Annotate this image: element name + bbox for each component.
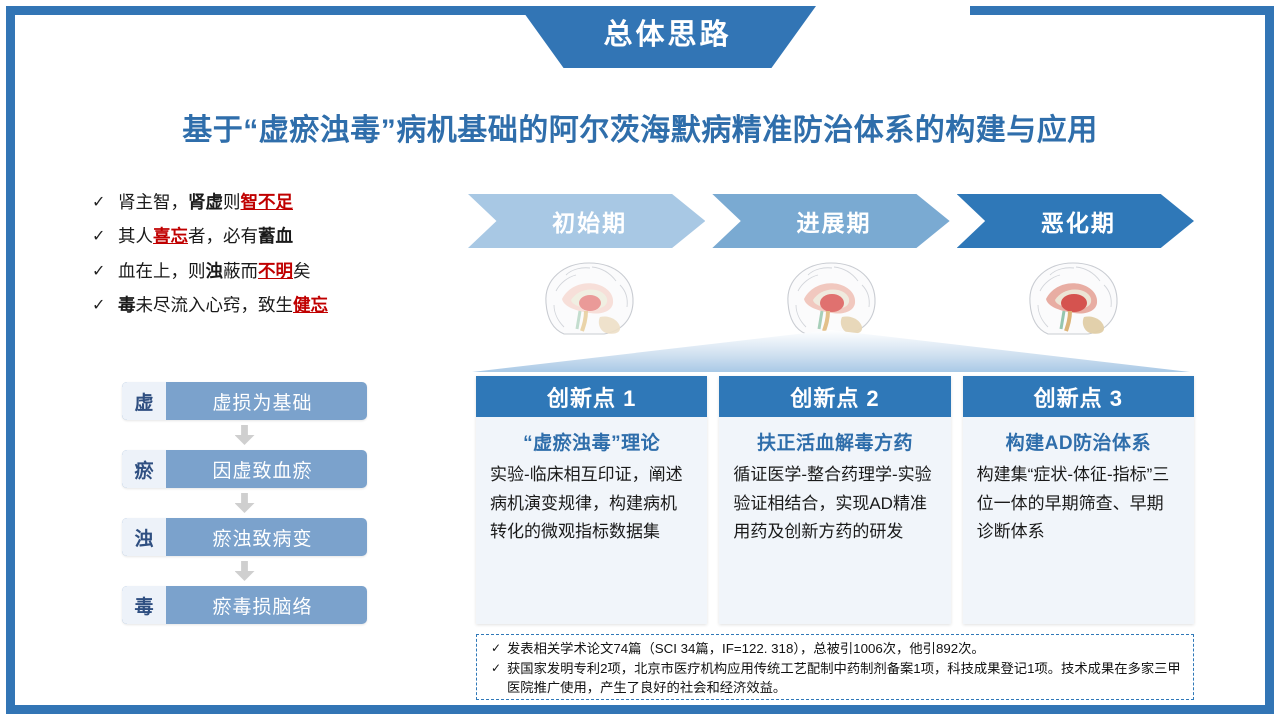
flow-step-label: 瘀浊致病变 — [166, 524, 367, 551]
stage-label: 初始期 — [546, 204, 627, 238]
text-run: 肾主智， — [118, 192, 188, 212]
text-run-highlight: 智不足 — [241, 192, 294, 212]
text-run: 则 — [223, 192, 241, 212]
innovation-card-2[interactable]: 创新点 2 扶正活血解毒方药 循证医学-整合药理学-实验验证相结合，实现AD精准… — [719, 376, 950, 624]
list-item: ✓ 其人喜忘者，必有蓄血 — [92, 224, 462, 249]
text-run-highlight: 不明 — [258, 261, 293, 281]
card-subtitle: “虚瘀浊毒”理论 — [476, 417, 707, 461]
innovation-cards: 创新点 1 “虚瘀浊毒”理论 实验-临床相互印证，阐述病机演变规律，构建病机转化… — [476, 376, 1194, 624]
slide-canvas: 总体思路 基于“虚瘀浊毒”病机基础的阿尔茨海默病精准防治体系的构建与应用 ✓ 肾… — [0, 0, 1280, 720]
stage-label: 恶化期 — [1035, 204, 1116, 238]
flow-step-label: 瘀毒损脑络 — [166, 592, 367, 619]
flow-step-label: 虚损为基础 — [166, 388, 367, 415]
header-banner: 总体思路 — [519, 6, 816, 68]
list-item: ✓ 血在上，则浊蔽而不明矣 — [92, 259, 462, 284]
check-icon: ✓ — [92, 293, 118, 316]
frame-border-top-left — [6, 6, 604, 15]
header-banner-title: 总体思路 — [603, 21, 731, 54]
frame-border-bottom — [6, 705, 1274, 714]
card-body-text: 实验-临床相互印证，阐述病机演变规律，构建病机转化的微观指标数据集 — [476, 461, 707, 557]
text-run: 者，必有 — [188, 226, 258, 246]
flow-step-xu[interactable]: 虚 虚损为基础 — [122, 382, 367, 420]
list-item: ✓ 肾主智，肾虚则智不足 — [92, 190, 462, 215]
check-icon: ✓ — [485, 660, 507, 677]
brain-sagittal-progressing-icon — [776, 255, 886, 341]
list-item-text: 毒未尽流入心窍，致生健忘 — [118, 293, 462, 318]
bullet-list: ✓ 肾主智，肾虚则智不足 ✓ 其人喜忘者，必有蓄血 ✓ 血在上，则浊蔽而不明矣 … — [92, 190, 462, 328]
flow-step-badge: 毒 — [122, 586, 166, 624]
check-icon: ✓ — [92, 224, 118, 247]
achievement-text: 发表相关学术论文74篇（SCI 34篇，IF=122. 318），总被引1006… — [507, 640, 1185, 659]
brain-cell — [468, 252, 710, 344]
card-header: 创新点 2 — [719, 376, 950, 417]
innovation-card-3[interactable]: 创新点 3 构建AD防治体系 构建集“症状-体征-指标”三位一体的早期筛查、早期… — [963, 376, 1194, 624]
text-run-bold: 蓄血 — [258, 226, 293, 246]
stage-chevron-worsening[interactable]: 恶化期 — [957, 194, 1194, 248]
text-run: 血在上，则 — [118, 261, 206, 281]
stage-label: 进展期 — [790, 204, 871, 238]
check-icon: ✓ — [92, 259, 118, 282]
achievement-item: ✓ 获国家发明专利2项，北京市医疗机构应用传统工艺配制中药制剂备案1项，科技成果… — [485, 660, 1185, 698]
frame-border-right — [1265, 6, 1274, 714]
text-run-bold: 浊 — [206, 261, 224, 281]
flow-connector — [122, 420, 367, 450]
frame-border-left — [6, 6, 15, 714]
text-run: 其人 — [118, 226, 153, 246]
text-run: 蔽而 — [223, 261, 258, 281]
flow-step-badge: 瘀 — [122, 450, 166, 488]
card-header: 创新点 3 — [963, 376, 1194, 417]
down-arrow-icon — [235, 425, 255, 445]
flow-step-yu[interactable]: 瘀 因虚致血瘀 — [122, 450, 367, 488]
flow-step-label: 因虚致血瘀 — [166, 456, 367, 483]
page-title: 基于“虚瘀浊毒”病机基础的阿尔茨海默病精准防治体系的构建与应用 — [0, 105, 1280, 149]
stage-chevron-initial[interactable]: 初始期 — [468, 194, 705, 248]
flow-connector — [122, 556, 367, 586]
flow-step-badge: 浊 — [122, 518, 166, 556]
stage-chevron-progressing[interactable]: 进展期 — [712, 194, 949, 248]
brain-cell — [952, 252, 1194, 344]
text-run-bold: 肾虚 — [188, 192, 223, 212]
stage-chevrons: 初始期 进展期 恶化期 — [468, 194, 1194, 248]
text-run: 未尽流入心窍，致生 — [136, 295, 294, 315]
flow-step-zhuo[interactable]: 浊 瘀浊致病变 — [122, 518, 367, 556]
frame-border-top-right — [970, 6, 1274, 15]
check-icon: ✓ — [485, 640, 507, 657]
list-item: ✓ 毒未尽流入心窍，致生健忘 — [92, 293, 462, 318]
text-run-bold: 毒 — [118, 295, 136, 315]
brain-sagittal-initial-icon — [534, 255, 644, 341]
card-subtitle: 扶正活血解毒方药 — [719, 417, 950, 461]
text-run-highlight: 健忘 — [293, 295, 328, 315]
flow-step-badge: 虚 — [122, 382, 166, 420]
achievement-text: 获国家发明专利2项，北京市医疗机构应用传统工艺配制中药制剂备案1项，科技成果登记… — [507, 660, 1185, 698]
pathogenesis-flow: 虚 虚损为基础 瘀 因虚致血瘀 浊 瘀浊致病变 毒 瘀毒损脑络 — [122, 382, 367, 624]
card-header: 创新点 1 — [476, 376, 707, 417]
down-arrow-icon — [235, 561, 255, 581]
achievements-box: ✓ 发表相关学术论文74篇（SCI 34篇，IF=122. 318），总被引10… — [476, 634, 1194, 700]
text-run: 矣 — [293, 261, 311, 281]
innovation-card-1[interactable]: 创新点 1 “虚瘀浊毒”理论 实验-临床相互印证，阐述病机演变规律，构建病机转化… — [476, 376, 707, 624]
down-arrow-icon — [235, 493, 255, 513]
flow-connector — [122, 488, 367, 518]
card-subtitle: 构建AD防治体系 — [963, 417, 1194, 461]
check-icon: ✓ — [92, 190, 118, 213]
achievement-item: ✓ 发表相关学术论文74篇（SCI 34篇，IF=122. 318），总被引10… — [485, 640, 1185, 659]
brain-sagittal-worsening-icon — [1018, 255, 1128, 341]
text-run-highlight: 喜忘 — [153, 226, 188, 246]
list-item-text: 肾主智，肾虚则智不足 — [118, 190, 462, 215]
list-item-text: 其人喜忘者，必有蓄血 — [118, 224, 462, 249]
card-body-text: 循证医学-整合药理学-实验验证相结合，实现AD精准用药及创新方药的研发 — [719, 461, 950, 557]
list-item-text: 血在上，则浊蔽而不明矣 — [118, 259, 462, 284]
flow-step-du[interactable]: 毒 瘀毒损脑络 — [122, 586, 367, 624]
card-body-text: 构建集“症状-体征-指标”三位一体的早期筛查、早期诊断体系 — [963, 461, 1194, 557]
